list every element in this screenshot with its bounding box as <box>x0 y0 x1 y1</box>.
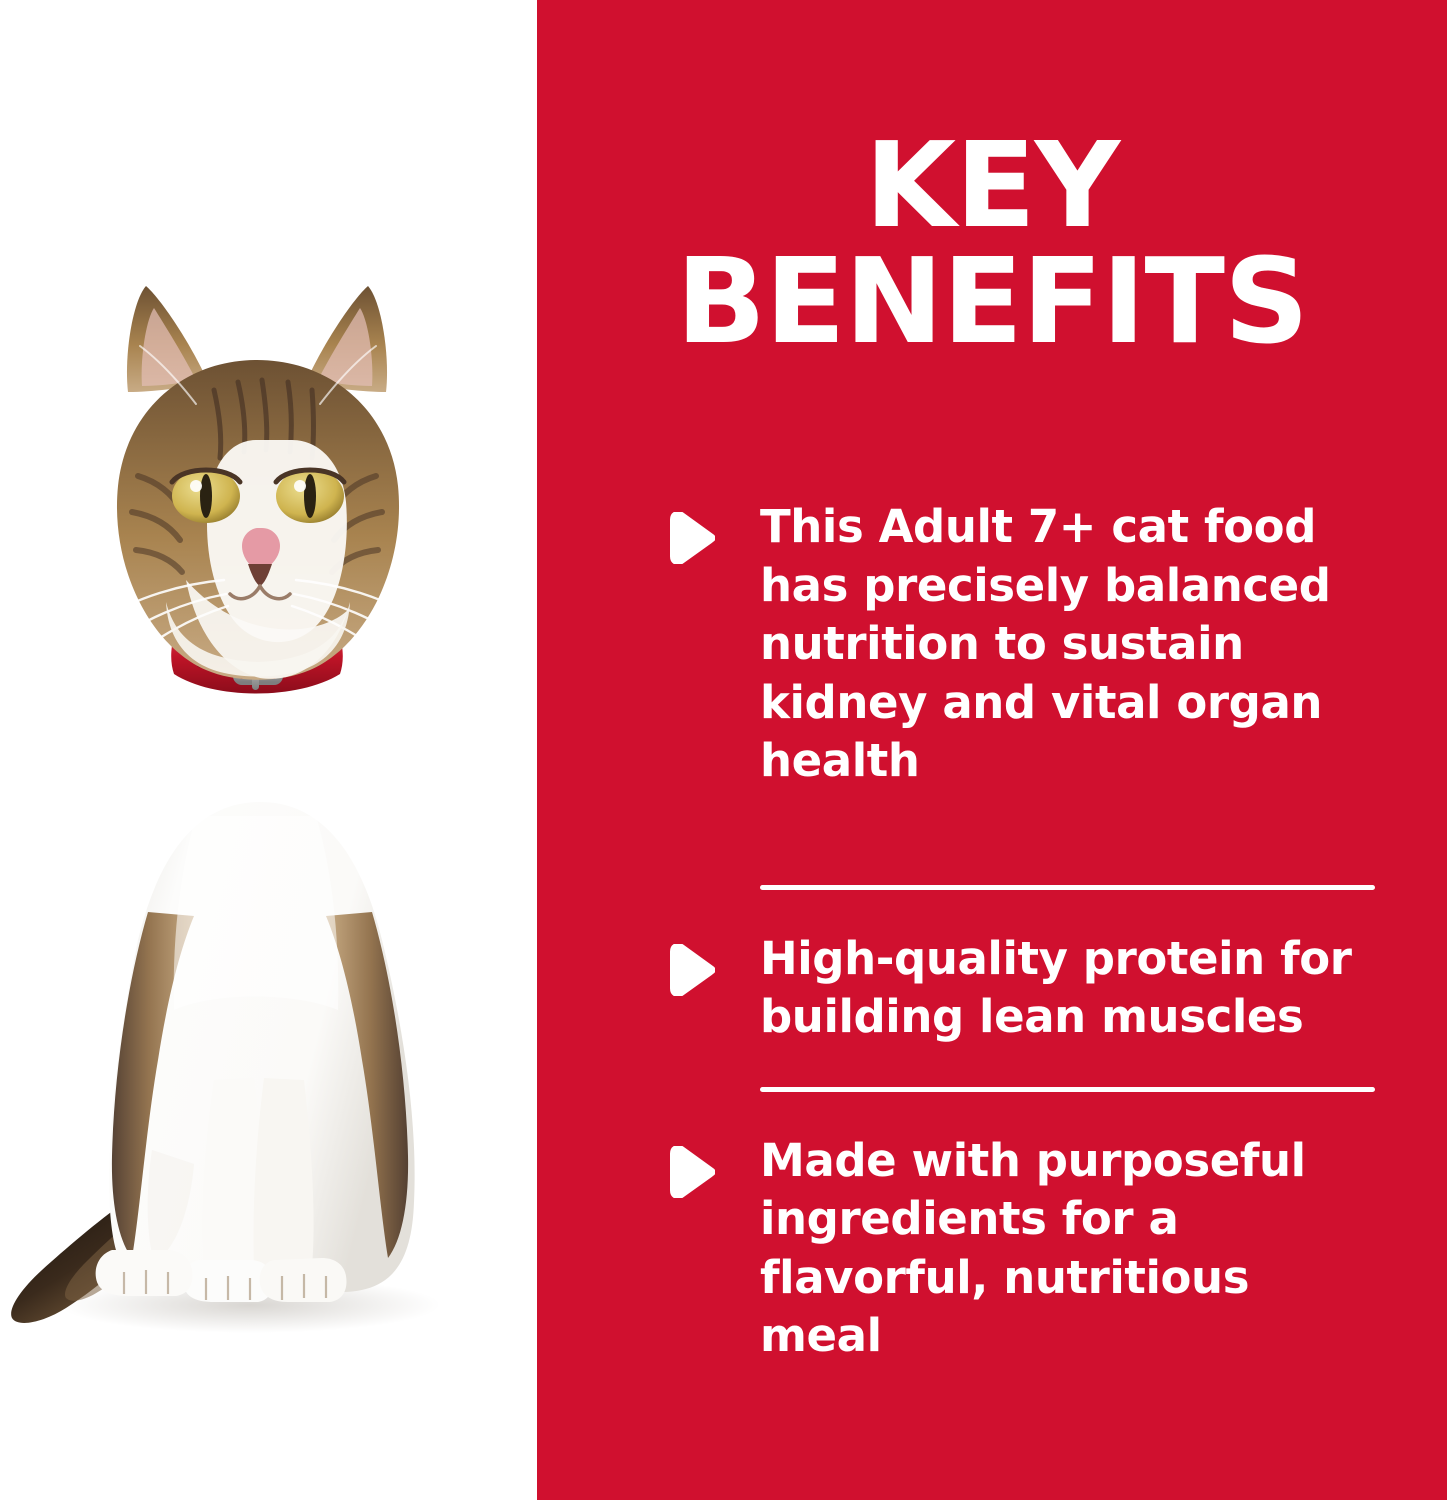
triangle-right-icon <box>665 1146 715 1198</box>
benefit-text-2: High-quality protein for building lean m… <box>760 930 1385 1047</box>
triangle-right-icon <box>665 944 715 996</box>
triangle-right-icon <box>665 512 715 564</box>
cat-eye-right <box>276 469 344 523</box>
cat-eye-left <box>172 469 240 523</box>
benefit-item-3: Made with purposeful ingredients for a f… <box>537 1132 1447 1366</box>
benefit-divider-2 <box>760 1087 1375 1092</box>
benefit-divider-1 <box>760 885 1375 890</box>
benefits-panel: KEY BENEFITS This Adult 7+ cat food has … <box>537 0 1447 1500</box>
benefit-list: This Adult 7+ cat food has precisely bal… <box>537 498 1447 1366</box>
page-title: KEY BENEFITS <box>537 128 1447 359</box>
photo-panel <box>0 0 537 1500</box>
benefit-text-1: This Adult 7+ cat food has precisely bal… <box>760 498 1385 791</box>
cat-photo <box>0 250 537 1360</box>
benefit-text-3: Made with purposeful ingredients for a f… <box>760 1132 1385 1366</box>
benefit-item-1: This Adult 7+ cat food has precisely bal… <box>537 498 1447 791</box>
benefit-item-2: High-quality protein for building lean m… <box>537 930 1447 1047</box>
product-feature-banner: KEY BENEFITS This Adult 7+ cat food has … <box>0 0 1447 1500</box>
cat-paw-rear-left <box>96 1250 193 1296</box>
cat-right-front-leg <box>253 1078 313 1266</box>
